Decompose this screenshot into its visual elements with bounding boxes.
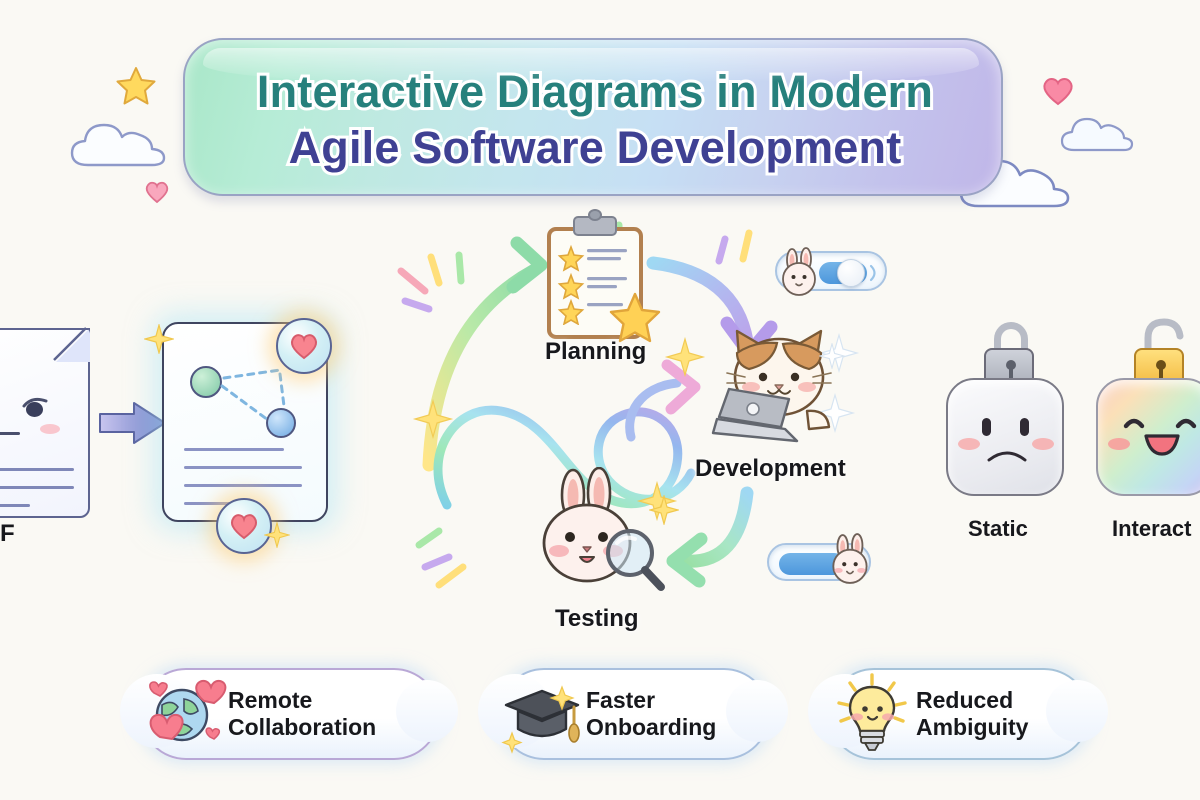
benefit-label: Remote Collaboration	[228, 687, 376, 740]
infographic-canvas: Interactive Diagrams in Modern Agile Sof…	[0, 0, 1200, 800]
star-icon	[114, 64, 158, 108]
globe-hearts-icon	[142, 671, 228, 757]
cloud-icon	[66, 115, 170, 173]
bunny-icon	[775, 247, 825, 297]
benefit-label: Faster Onboarding	[586, 687, 716, 740]
interactive-state-label: Interact	[1112, 516, 1191, 542]
sad-document-icon	[0, 328, 90, 518]
cycle-label-testing: Testing	[555, 605, 639, 633]
locked-sad-square-icon	[944, 322, 1074, 492]
toggle-top[interactable]	[775, 251, 887, 291]
benefit-pill-reduced-ambiguity[interactable]: Reduced Ambiguity	[828, 668, 1090, 760]
heart-icon	[1041, 75, 1075, 107]
benefits-row: Remote Collaboration Faster Onboarding	[0, 648, 1200, 788]
cycle-label-development: Development	[695, 455, 846, 483]
graduation-cap-icon	[500, 671, 586, 757]
heart-badge	[216, 498, 272, 554]
lightbulb-icon	[830, 671, 916, 757]
static-to-interactive-comparison: tic PDF	[0, 300, 340, 580]
benefit-pill-faster-onboarding[interactable]: Faster Onboarding	[498, 668, 770, 760]
agile-cycle-diagram: Planning	[395, 205, 905, 655]
static-state-label: Static	[968, 516, 1028, 542]
page-title-line-1: Interactive Diagrams in Modern	[185, 66, 1005, 118]
unlocked-happy-square-icon	[1094, 322, 1200, 492]
cat-with-laptop-icon	[713, 327, 843, 447]
heart-icon	[144, 180, 170, 204]
bunny-icon	[825, 533, 877, 585]
toggle-bottom[interactable]	[767, 543, 871, 581]
static-vs-interactive-states: Static Interact	[930, 300, 1200, 580]
right-arrow-icon	[98, 400, 168, 446]
bunny-with-magnifier-icon	[537, 467, 667, 593]
cycle-label-planning: Planning	[545, 338, 646, 366]
title-banner: Interactive Diagrams in Modern Agile Sof…	[183, 38, 1003, 196]
clipboard-checklist-icon	[547, 217, 643, 339]
heart-badge	[276, 318, 332, 374]
benefit-pill-remote-collaboration[interactable]: Remote Collaboration	[140, 668, 440, 760]
static-pdf-label: tic PDF	[0, 520, 15, 548]
page-title-line-2: Agile Software Development	[185, 122, 1005, 174]
cloud-icon	[1058, 112, 1134, 156]
benefit-label: Reduced Ambiguity	[916, 687, 1028, 740]
